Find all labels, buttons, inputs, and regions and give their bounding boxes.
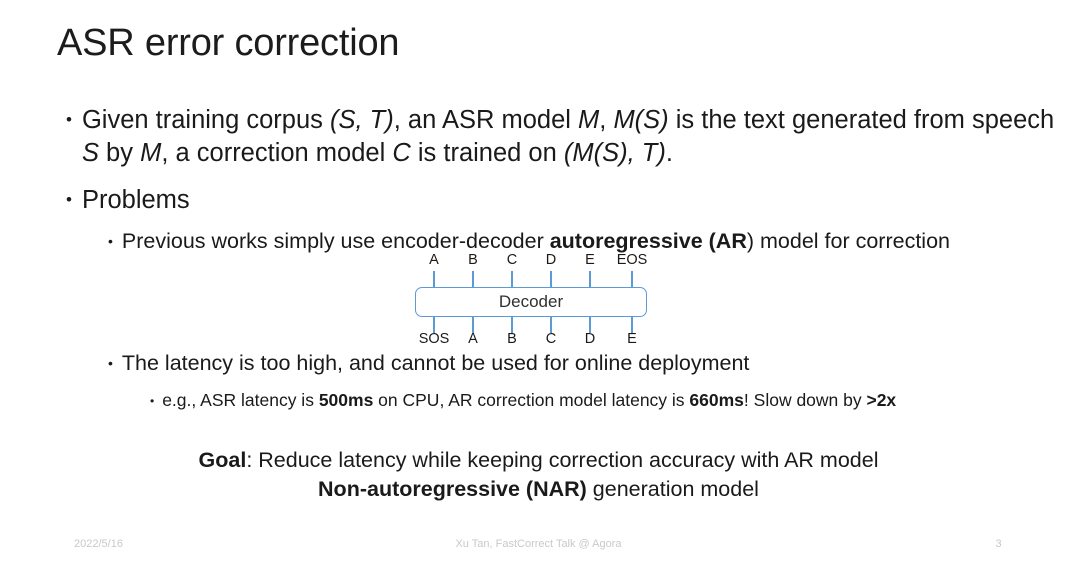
asr-latency-value: 500ms (319, 390, 374, 410)
goal-block: Goal: Reduce latency while keeping corre… (0, 446, 1077, 504)
bullet-example: • e.g., ASR latency is 500ms on CPU, AR … (150, 390, 1050, 412)
decoder-output-5: EOS (617, 252, 648, 268)
decoder-output-1: B (468, 252, 478, 268)
slowdown-value: >2x (866, 390, 896, 410)
decoder-input-connector-3 (550, 315, 552, 333)
bullet-glyph: • (66, 104, 82, 128)
decoder-output-4: E (585, 252, 595, 268)
decoder-input-3: C (546, 331, 556, 347)
decoder-box: Decoder (415, 287, 647, 317)
bullet-problems-label: Problems (82, 184, 466, 217)
decoder-input-connector-0 (433, 315, 435, 333)
goal-line-1-rest: : Reduce latency while keeping correctio… (246, 448, 878, 472)
slide-canvas: ASR error correction • Given training co… (0, 0, 1077, 561)
page-title: ASR error correction (57, 22, 399, 65)
bullet-glyph: • (150, 390, 162, 407)
bullet-definition-text: Given training corpus (S, T), an ASR mod… (82, 104, 1066, 170)
decoder-input-connector-5 (631, 315, 633, 333)
footer-page-number: 3 (0, 538, 1077, 550)
nar-term: Non-autoregressive (NAR) (318, 477, 587, 501)
decoder-input-0: SOS (419, 331, 450, 347)
decoder-box-label: Decoder (499, 292, 563, 312)
goal-line-2: Non-autoregressive (NAR) generation mode… (0, 475, 1077, 504)
decoder-input-connector-4 (589, 315, 591, 333)
bullet-latency: • The latency is too high, and cannot be… (108, 350, 1048, 378)
decoder-input-connector-1 (472, 315, 474, 333)
decoder-output-0: A (429, 252, 439, 268)
bullet-glyph: • (108, 228, 122, 248)
bullet-latency-text: The latency is too high, and cannot be u… (122, 350, 1048, 378)
bullet-definition: • Given training corpus (S, T), an ASR m… (66, 104, 1066, 170)
decoder-output-3: D (546, 252, 556, 268)
bullet-glyph: • (108, 350, 122, 370)
bullet-glyph: • (66, 184, 82, 208)
bullet-problems: • Problems (66, 184, 466, 217)
decoder-diagram: Decoder A B C D E EOS SOS A B C D E (406, 252, 656, 350)
decoder-output-2: C (507, 252, 517, 268)
decoder-input-2: B (507, 331, 517, 347)
decoder-input-1: A (468, 331, 478, 347)
decoder-input-connector-2 (511, 315, 513, 333)
ar-latency-value: 660ms (689, 390, 744, 410)
goal-label: Goal (199, 448, 247, 472)
bullet-example-text: e.g., ASR latency is 500ms on CPU, AR co… (162, 390, 1050, 412)
goal-line-1: Goal: Reduce latency while keeping corre… (0, 446, 1077, 475)
goal-line-2-rest: generation model (587, 477, 759, 501)
decoder-input-4: D (585, 331, 595, 347)
decoder-input-5: E (627, 331, 637, 347)
